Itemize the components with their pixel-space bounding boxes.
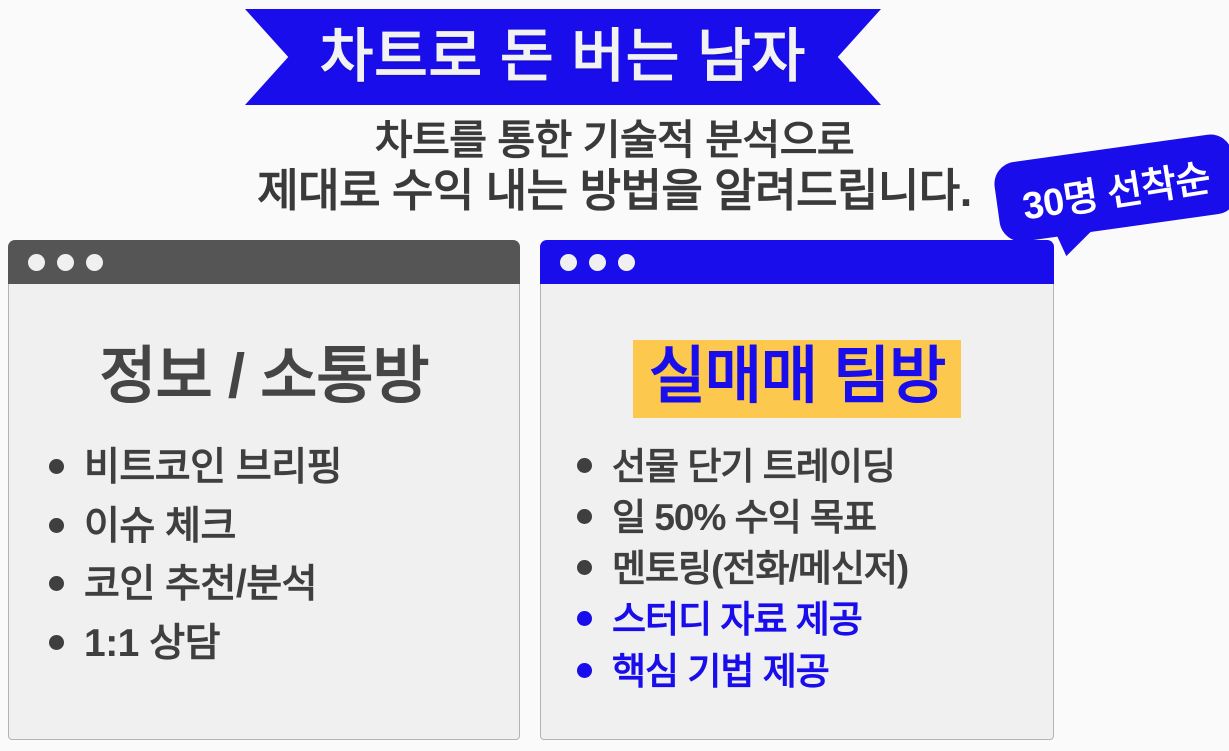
- list-item-label: 1:1 상담: [84, 620, 220, 668]
- bullet-dot-icon: [577, 458, 592, 473]
- bullet-dot-icon: [49, 518, 64, 533]
- bullet-dot-icon: [577, 509, 592, 524]
- banner-ribbon: 차트로 돈 버는 남자: [245, 9, 881, 105]
- list-item: 1:1 상담: [49, 620, 505, 668]
- list-item-label: 일 50% 수익 목표: [612, 495, 876, 540]
- card-titlebar: [540, 240, 1054, 284]
- list-item-label: 비트코인 브리핑: [84, 444, 342, 492]
- bullet-dot-icon: [577, 663, 592, 678]
- list-item-label: 핵심 기법 제공: [612, 649, 829, 694]
- list-item: 코인 추천/분석: [49, 561, 505, 609]
- card-titlebar: [8, 240, 520, 284]
- bullet-dot-icon: [49, 635, 64, 650]
- list-item-label: 멘토링(전화/메신저): [612, 546, 908, 591]
- window-dot-icon: [618, 254, 635, 271]
- feature-list: 비트코인 브리핑 이슈 체크 코인 추천/분석 1:1 상담: [23, 444, 505, 667]
- card-heading-text: 실매매 팀방: [633, 340, 961, 418]
- list-item-label: 이슈 체크: [84, 503, 236, 551]
- window-dot-icon: [589, 254, 606, 271]
- window-dot-icon: [86, 254, 103, 271]
- list-item: 멘토링(전화/메신저): [577, 546, 1039, 591]
- promo-poster: 차트로 돈 버는 남자 차트를 통한 기술적 분석으로 제대로 수익 내는 방법…: [0, 0, 1229, 751]
- card-heading-text: 정보 / 소통방: [100, 342, 429, 411]
- badge-label: 30명 선착순: [1018, 146, 1213, 230]
- feature-list: 선물 단기 트레이딩 일 50% 수익 목표 멘토링(전화/메신저) 스터디 자…: [555, 444, 1039, 694]
- window-dot-icon: [560, 254, 577, 271]
- card-info-room: 정보 / 소통방 비트코인 브리핑 이슈 체크 코인 추천/분석 1:1 상담: [8, 240, 520, 740]
- list-item: 비트코인 브리핑: [49, 444, 505, 492]
- window-dot-icon: [28, 254, 45, 271]
- list-item: 핵심 기법 제공: [577, 649, 1039, 694]
- card-body: 정보 / 소통방 비트코인 브리핑 이슈 체크 코인 추천/분석 1:1 상담: [8, 284, 520, 740]
- bullet-dot-icon: [49, 576, 64, 591]
- bullet-dot-icon: [49, 459, 64, 474]
- list-item: 스터디 자료 제공: [577, 597, 1039, 642]
- list-item-label: 스터디 자료 제공: [612, 597, 862, 642]
- bullet-dot-icon: [577, 560, 592, 575]
- bullet-dot-icon: [577, 611, 592, 626]
- card-body: 실매매 팀방 선물 단기 트레이딩 일 50% 수익 목표 멘토링(전화/메신저…: [540, 284, 1054, 740]
- banner-title: 차트로 돈 버는 남자: [320, 28, 806, 86]
- list-item: 선물 단기 트레이딩: [577, 444, 1039, 489]
- card-live-trading-team: 실매매 팀방 선물 단기 트레이딩 일 50% 수익 목표 멘토링(전화/메신저…: [540, 240, 1054, 740]
- list-item: 이슈 체크: [49, 503, 505, 551]
- card-heading: 정보 / 소통방: [23, 346, 505, 408]
- list-item-label: 선물 단기 트레이딩: [612, 444, 895, 489]
- list-item: 일 50% 수익 목표: [577, 495, 1039, 540]
- card-heading: 실매매 팀방: [555, 340, 1039, 418]
- list-item-label: 코인 추천/분석: [84, 561, 317, 609]
- window-dot-icon: [57, 254, 74, 271]
